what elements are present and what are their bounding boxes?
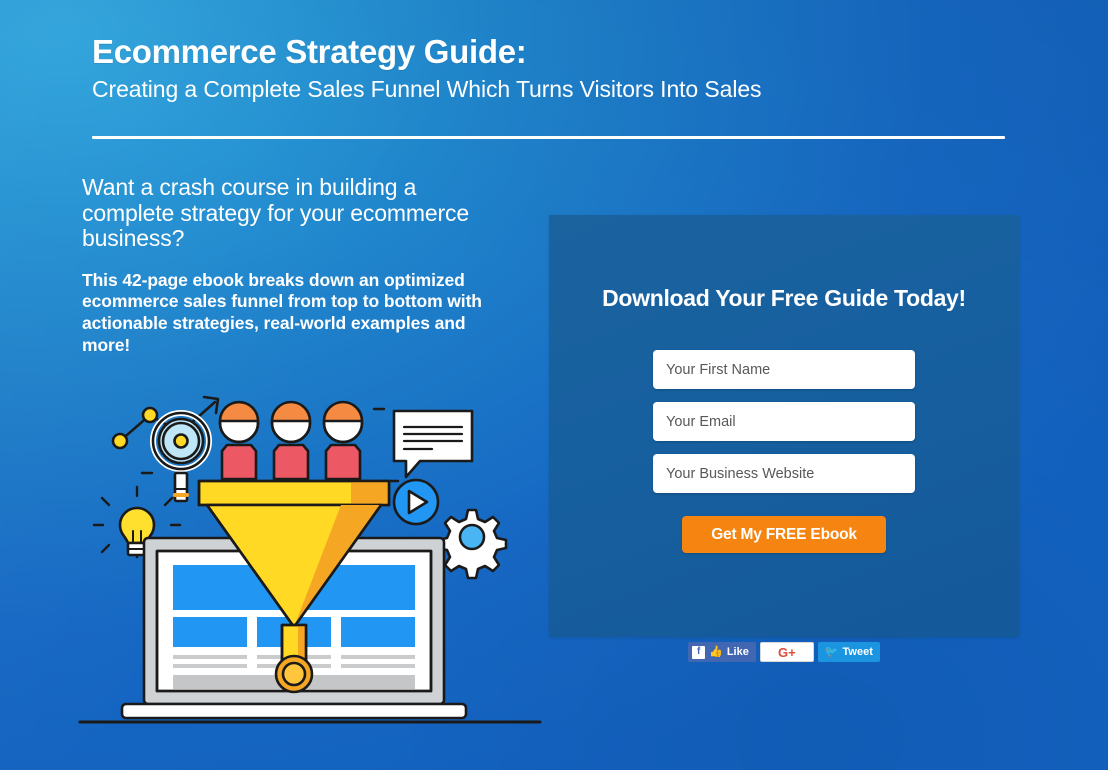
page-header: Ecommerce Strategy Guide: Creating a Com… [92,32,1012,104]
twitter-tweet-label: Tweet [843,647,873,658]
form-fields [549,350,1019,493]
twitter-tweet-button[interactable]: 🐦 Tweet [818,642,880,662]
google-plus-button[interactable]: G+ [760,642,814,662]
twitter-bird-icon: 🐦 [825,647,839,658]
facebook-like-label: Like [727,647,749,658]
get-free-ebook-button[interactable]: Get My FREE Ebook [682,516,886,553]
email-input[interactable] [653,402,915,441]
facebook-f-icon: f [692,646,705,659]
gear-icon [438,510,506,578]
play-button-icon [394,480,438,524]
business-website-input[interactable] [653,454,915,493]
value-prop-heading: Want a crash course in building a comple… [82,175,514,252]
sales-funnel-illustration [76,385,546,725]
social-share-bar: f 👍 Like G+ 🐦 Tweet [549,642,1019,662]
google-plus-label: G+ [778,646,796,659]
thumbs-up-icon: 👍 [709,647,723,658]
facebook-like-button[interactable]: f 👍 Like [688,642,756,662]
form-title: Download Your Free Guide Today! [549,285,1019,312]
speech-bubble-icon [394,411,472,477]
header-divider [92,136,1005,139]
value-prop-body: This 42-page ebook breaks down an optimi… [82,270,514,357]
lead-capture-panel: Download Your Free Guide Today! Get My F… [549,215,1019,637]
landing-page: Ecommerce Strategy Guide: Creating a Com… [0,0,1108,770]
left-column: Want a crash course in building a comple… [82,175,514,357]
page-title: Ecommerce Strategy Guide: [92,32,1012,72]
people-icon [220,402,362,479]
page-subtitle: Creating a Complete Sales Funnel Which T… [92,74,1012,104]
first-name-input[interactable] [653,350,915,389]
